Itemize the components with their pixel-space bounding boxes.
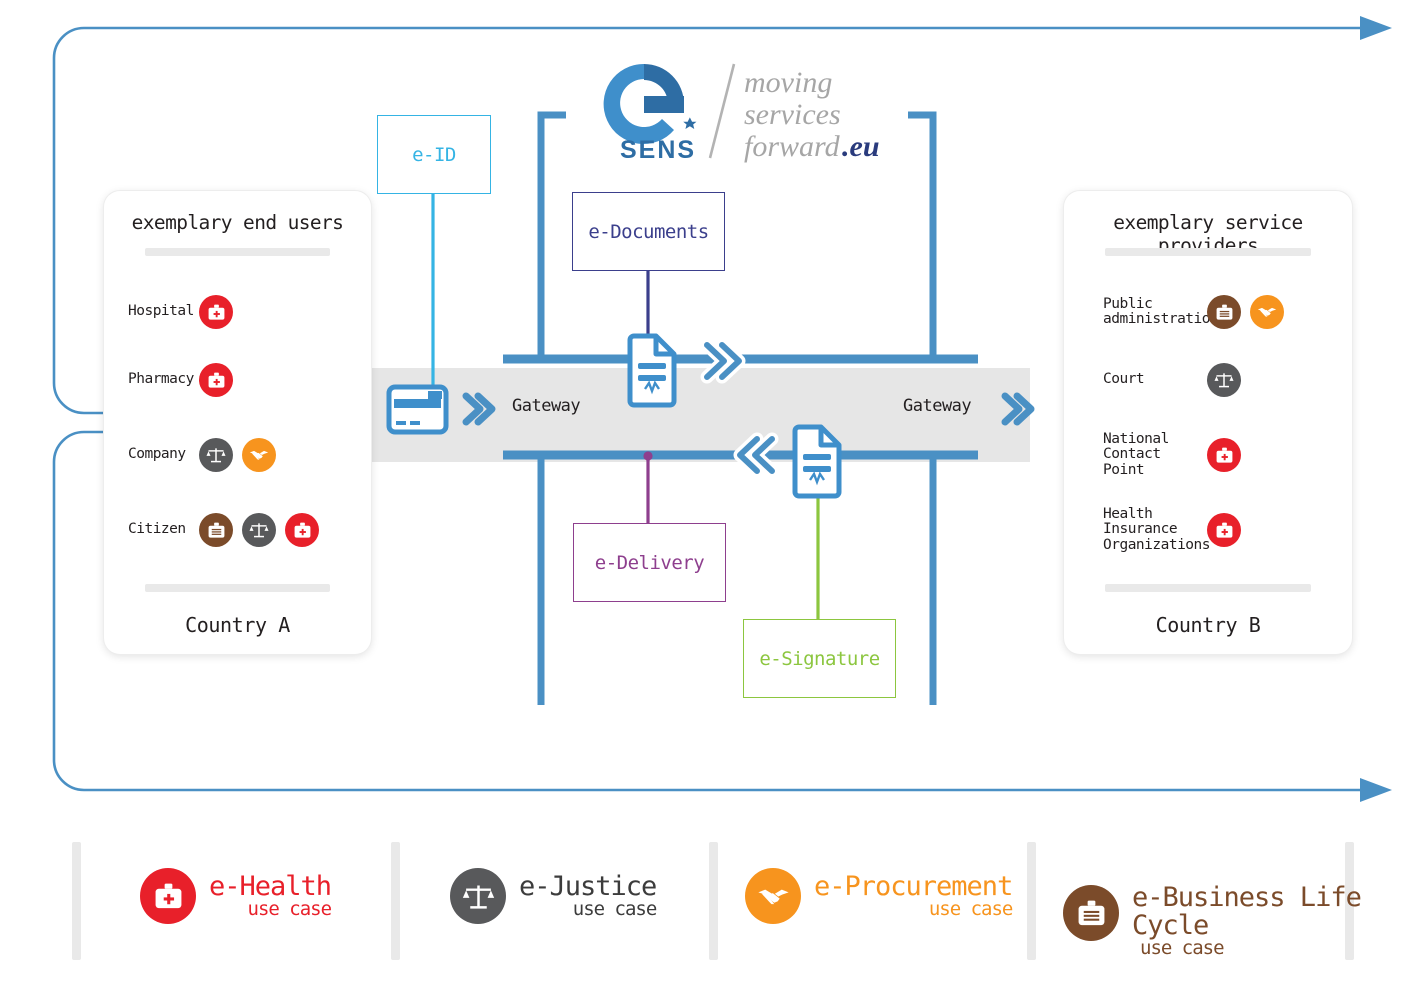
panel-a-title: exemplary end users	[104, 211, 371, 234]
panel-a-rule-top	[145, 248, 330, 256]
health-kit-icon	[199, 363, 233, 397]
handshake-icon	[242, 438, 276, 472]
panel-a-country: Country A	[104, 613, 371, 637]
health-kit-icon	[199, 295, 233, 329]
list-item[interactable]: Company	[128, 432, 276, 478]
panel-a-rule-bottom	[145, 584, 330, 592]
block-e-signature[interactable]: e-Signature	[743, 619, 896, 698]
row-label: Company	[128, 447, 199, 463]
justice-scales-icon	[242, 513, 276, 547]
briefcase-icon	[199, 513, 233, 547]
document-icon-inbound	[795, 427, 839, 496]
svg-text:services: services	[744, 98, 841, 131]
row-icons	[199, 295, 233, 329]
legend-title: e-Business Life Cycle	[1132, 882, 1361, 941]
legend-divider	[391, 842, 400, 960]
health-kit-icon	[1207, 513, 1241, 547]
health-kit-icon	[1207, 438, 1241, 472]
legend-divider	[72, 842, 81, 960]
list-item[interactable]: Hospital	[128, 289, 233, 335]
row-icons	[1207, 438, 1241, 472]
id-card-icon	[389, 387, 446, 432]
legend-title: e-Justice	[519, 873, 656, 901]
row-label: Health Insurance Organizations	[1103, 507, 1207, 554]
briefcase-icon	[1063, 885, 1119, 941]
legend-title: e-Health	[209, 873, 331, 901]
block-e-documents[interactable]: e-Documents	[572, 192, 725, 271]
row-icons	[1207, 295, 1284, 329]
panel-b-country: Country B	[1064, 613, 1352, 637]
briefcase-icon	[1207, 295, 1241, 329]
justice-scales-icon	[1207, 363, 1241, 397]
health-kit-icon	[285, 513, 319, 547]
legend-text: e-Justice use case	[519, 873, 656, 920]
row-label: Public administration	[1103, 297, 1207, 328]
legend-text: e-Health use case	[209, 873, 331, 920]
block-e-delivery[interactable]: e-Delivery	[573, 523, 726, 602]
use-case-legend: e-Health use case e-Justice use case	[0, 838, 1418, 968]
legend-item-e-health[interactable]: e-Health use case	[140, 868, 331, 924]
row-label: Pharmacy	[128, 372, 199, 388]
list-item[interactable]: Public administration	[1103, 289, 1284, 335]
row-label: National Contact Point	[1103, 432, 1207, 479]
row-icons	[199, 513, 319, 547]
legend-subtitle: use case	[519, 900, 656, 919]
list-item[interactable]: Court	[1103, 357, 1241, 403]
esens-logo: SENS moving services forward .eu	[598, 58, 898, 170]
chevron-right-gateway	[1005, 396, 1031, 422]
block-e-id[interactable]: e-ID	[377, 115, 491, 194]
row-icons	[1207, 363, 1241, 397]
panel-b-rule-bottom	[1105, 584, 1311, 592]
document-icon-outbound	[630, 336, 674, 405]
legend-text: e-Procurement use case	[814, 873, 1012, 920]
legend-subtitle: use case	[1140, 937, 1224, 959]
legend-item-e-procurement[interactable]: e-Procurement use case	[745, 868, 1012, 924]
justice-scales-icon	[450, 868, 506, 924]
list-item[interactable]: Health Insurance Organizations	[1103, 507, 1241, 553]
list-item[interactable]: Pharmacy	[128, 357, 233, 403]
panel-country-b: exemplary service providers Public admin…	[1064, 191, 1352, 654]
panel-country-a: exemplary end users Hospital	[104, 191, 371, 654]
svg-text:.eu: .eu	[842, 130, 880, 163]
gateway-label-left: Gateway	[512, 396, 580, 416]
legend-title: e-Procurement	[814, 873, 1012, 901]
row-icons	[1207, 513, 1241, 547]
gateway-label-right: Gateway	[903, 396, 971, 416]
list-item[interactable]: National Contact Point	[1103, 432, 1241, 478]
legend-item-e-business-life-cycle[interactable]: e-Business Life Cycle use case	[1063, 868, 1361, 959]
health-kit-icon	[140, 868, 196, 924]
legend-divider	[709, 842, 718, 960]
list-item[interactable]: Citizen	[128, 507, 319, 553]
legend-subtitle: use case	[209, 900, 331, 919]
diagram-canvas: Gateway Gateway	[0, 0, 1418, 985]
row-icons	[199, 438, 276, 472]
row-label: Citizen	[128, 522, 199, 538]
handshake-icon	[1250, 295, 1284, 329]
justice-scales-icon	[199, 438, 233, 472]
legend-text: e-Business Life Cycle use case	[1132, 868, 1361, 959]
legend-divider	[1027, 842, 1036, 960]
chevron-right-eid	[466, 396, 492, 422]
legend-subtitle: use case	[814, 900, 1012, 919]
legend-item-e-justice[interactable]: e-Justice use case	[450, 868, 656, 924]
row-icons	[199, 363, 233, 397]
row-label: Hospital	[128, 304, 199, 320]
svg-text:SENS: SENS	[620, 136, 696, 164]
row-label: Court	[1103, 372, 1207, 388]
svg-text:forward: forward	[744, 130, 841, 163]
handshake-icon	[745, 868, 801, 924]
panel-b-rule-top	[1105, 248, 1311, 256]
svg-text:moving: moving	[744, 66, 832, 99]
e-mark-icon	[604, 64, 697, 144]
